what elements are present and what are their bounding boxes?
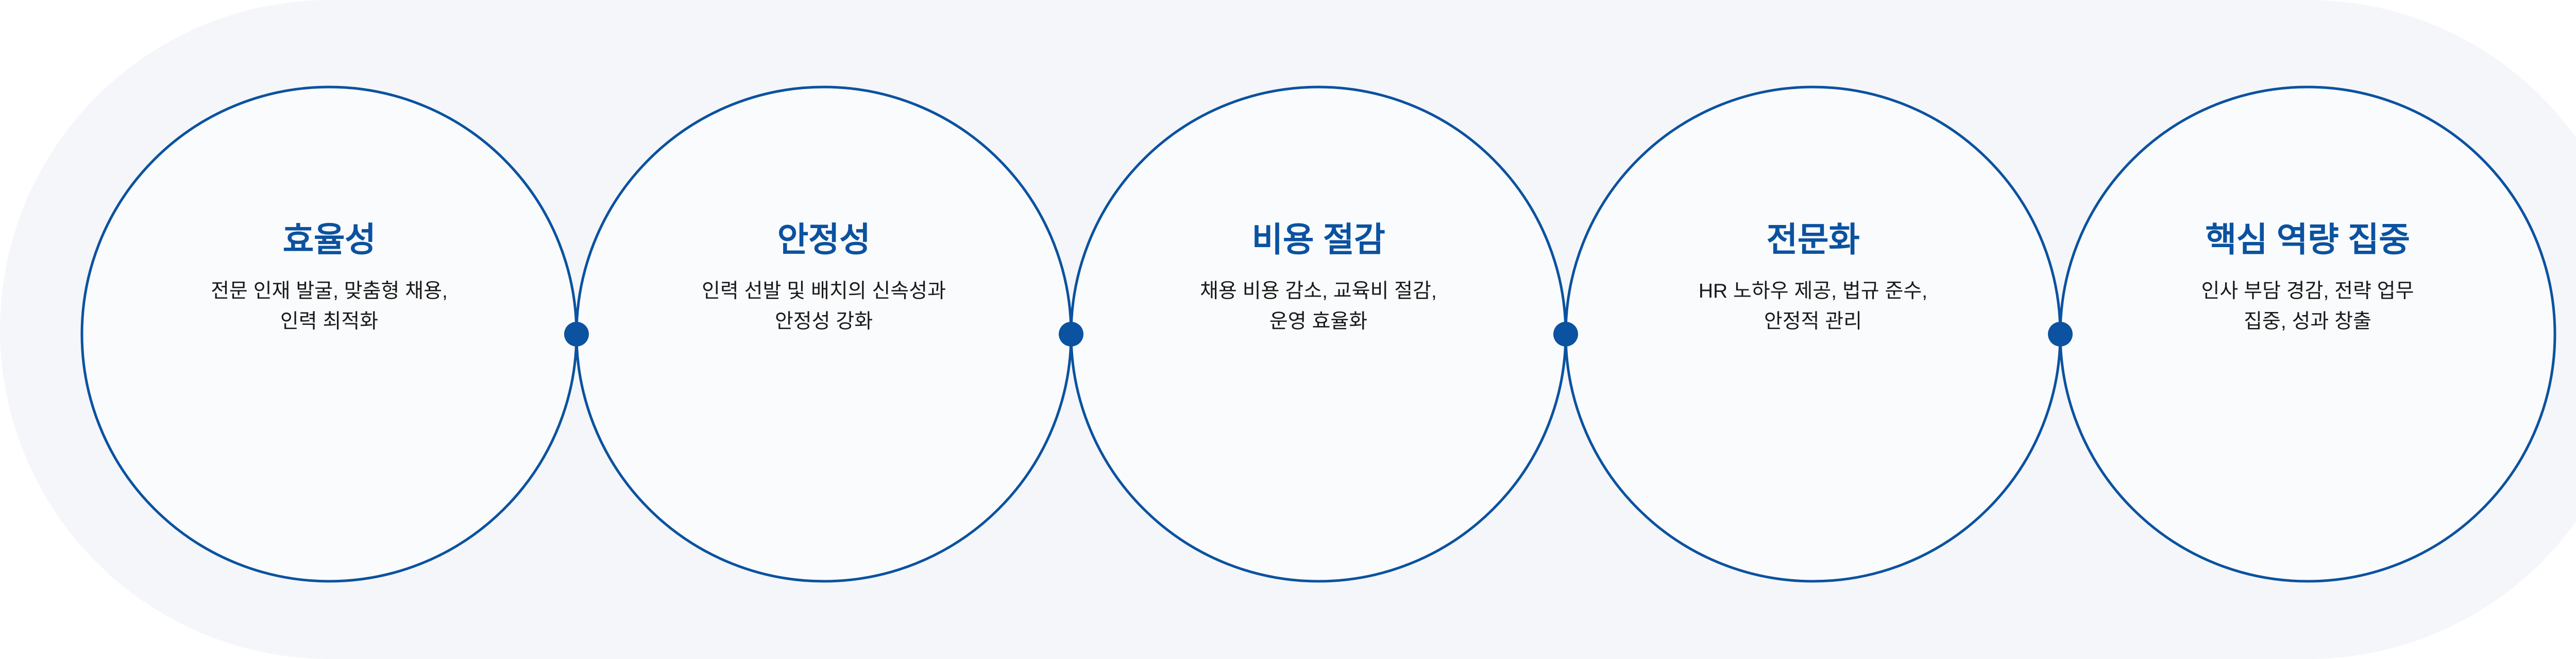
node-description-line: 안정적 관리 bbox=[1764, 310, 1862, 333]
connector-dot-3 bbox=[1553, 322, 1578, 346]
node-description-efficiency: 전문 인재 발굴, 맞춤형 채용,인력 최적화 bbox=[133, 276, 525, 337]
benefits-circle-diagram: 효율성전문 인재 발굴, 맞춤형 채용,인력 최적화안정성인력 선발 및 배치의… bbox=[0, 0, 2576, 659]
node-title-specialization: 전문화 bbox=[1617, 221, 2009, 258]
node-efficiency[interactable]: 효율성전문 인재 발굴, 맞춤형 채용,인력 최적화 bbox=[133, 221, 525, 337]
node-description-specialization: HR 노하우 제공, 법규 준수,안정적 관리 bbox=[1617, 276, 2009, 337]
node-description-cost-reduction: 채용 비용 감소, 교육비 절감,운영 효율화 bbox=[1123, 276, 1514, 337]
node-description-line: 인사 부담 경감, 전략 업무 bbox=[2201, 280, 2414, 302]
node-description-line: 집중, 성과 창출 bbox=[2244, 310, 2371, 333]
connector-dot-1 bbox=[564, 322, 589, 346]
node-description-line: 채용 비용 감소, 교육비 절감, bbox=[1200, 280, 1437, 302]
node-description-line: 인력 최적화 bbox=[280, 310, 378, 333]
node-specialization[interactable]: 전문화HR 노하우 제공, 법규 준수,안정적 관리 bbox=[1617, 221, 2009, 337]
node-title-stability: 안정성 bbox=[628, 221, 1020, 258]
node-description-line: 안정성 강화 bbox=[775, 310, 873, 333]
node-description-stability: 인력 선발 및 배치의 신속성과안정성 강화 bbox=[628, 276, 1020, 337]
node-description-line: HR 노하우 제공, 법규 준수, bbox=[1699, 280, 1927, 302]
node-description-line: 전문 인재 발굴, 맞춤형 채용, bbox=[211, 280, 448, 302]
node-title-cost-reduction: 비용 절감 bbox=[1123, 221, 1514, 258]
node-description-core-competency-focus: 인사 부담 경감, 전략 업무집중, 성과 창출 bbox=[2112, 276, 2503, 337]
node-title-core-competency-focus: 핵심 역량 집중 bbox=[2112, 221, 2503, 258]
node-description-line: 운영 효율화 bbox=[1269, 310, 1367, 333]
node-description-line: 인력 선발 및 배치의 신속성과 bbox=[702, 280, 946, 302]
node-title-efficiency: 효율성 bbox=[133, 221, 525, 258]
node-core-competency-focus[interactable]: 핵심 역량 집중인사 부담 경감, 전략 업무집중, 성과 창출 bbox=[2112, 221, 2503, 337]
node-stability[interactable]: 안정성인력 선발 및 배치의 신속성과안정성 강화 bbox=[628, 221, 1020, 337]
node-cost-reduction[interactable]: 비용 절감채용 비용 감소, 교육비 절감,운영 효율화 bbox=[1123, 221, 1514, 337]
connector-dot-2 bbox=[1059, 322, 1083, 346]
connector-dot-4 bbox=[2048, 322, 2073, 346]
